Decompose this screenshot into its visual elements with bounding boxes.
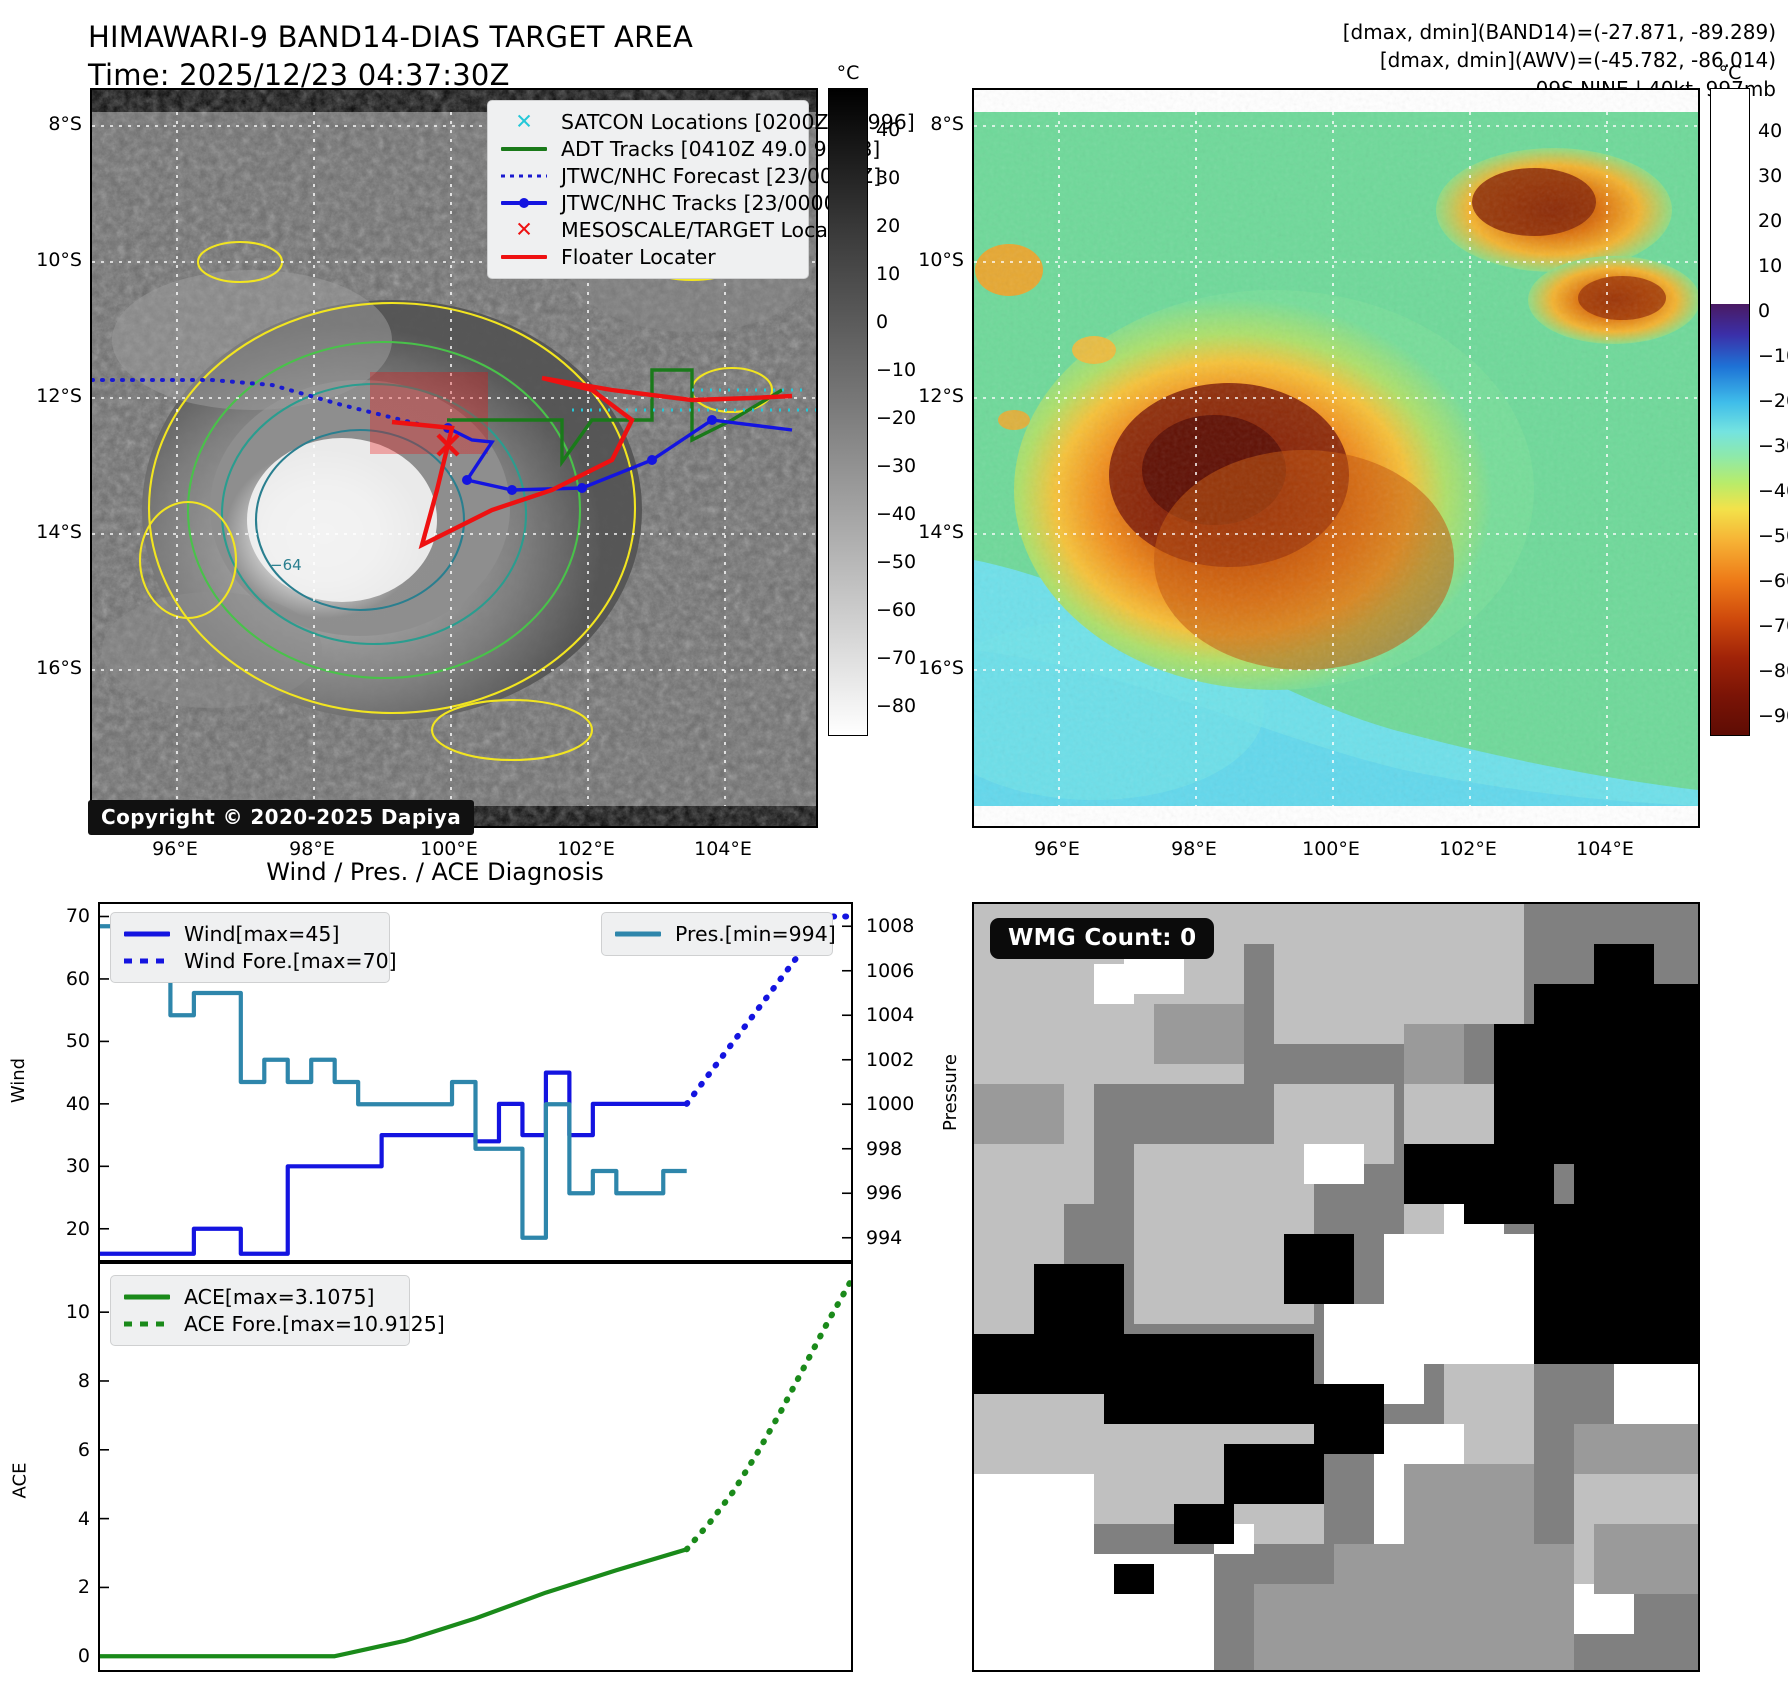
- wind-line-icon: [121, 924, 173, 944]
- awv-colorbar-tick: 0: [1758, 300, 1770, 322]
- awv-colorbar-tick: −40: [1758, 480, 1788, 502]
- lon-label: 102°E: [541, 838, 631, 860]
- lon-label: 100°E: [1286, 838, 1376, 860]
- awv-colorbar-tick: −90: [1758, 705, 1788, 727]
- ir-colorbar-tick: −30: [876, 455, 916, 477]
- diagnosis-subtitle: Wind / Pres. / ACE Diagnosis: [55, 858, 815, 886]
- axis-tick-label: 2: [30, 1576, 90, 1598]
- axis-tick-label: 996: [866, 1182, 902, 1204]
- ir-colorbar-tick: −20: [876, 407, 916, 429]
- mesoscale-x-icon: ✕: [498, 220, 550, 240]
- lat-label: 8°S: [890, 113, 964, 135]
- ace-line-icon: [121, 1287, 173, 1307]
- lat-label: 12°S: [890, 385, 964, 407]
- lat-label: 14°S: [890, 521, 964, 543]
- legend-item: JTWC/NHC Tracks [23/0000Z]: [498, 189, 797, 216]
- axis-tick-label: 1008: [866, 915, 914, 937]
- awv-colorbar-tick: −50: [1758, 525, 1788, 547]
- axis-tick-label: 994: [866, 1227, 902, 1249]
- lat-label: 16°S: [8, 657, 82, 679]
- legend-item: ADT Tracks [0410Z 49.0 996.8]: [498, 135, 797, 162]
- awv-satellite-image: [974, 90, 1698, 826]
- axis-tick-label: 10: [30, 1301, 90, 1323]
- lat-label: 12°S: [8, 385, 82, 407]
- pressure-line-icon: [612, 924, 664, 944]
- ir-colorbar-tick: 0: [876, 311, 888, 333]
- pressure-axis-title: Pressure: [940, 1054, 961, 1131]
- pressure-legend: Pres.[min=994]: [601, 912, 833, 956]
- ir-colorbar: [828, 88, 868, 736]
- axis-tick-label: 1006: [866, 960, 914, 982]
- ir-colorbar-tick: −80: [876, 695, 916, 717]
- ace-axis-title: ACE: [9, 1463, 30, 1499]
- axis-tick-label: 60: [30, 968, 90, 990]
- legend-item: ACE[max=3.1075]: [121, 1283, 398, 1310]
- legend-item: Floater Locater: [498, 243, 797, 270]
- band14-dmax-dmin-readout: [dmax, dmin](BAND14)=(-27.871, -89.289): [1343, 18, 1776, 46]
- lon-label: 104°E: [1560, 838, 1650, 860]
- legend-item: Pres.[min=994]: [612, 920, 821, 947]
- axis-tick-label: 8: [30, 1370, 90, 1392]
- awv-colorbar-tick: 10: [1758, 255, 1782, 277]
- awv-colorbar-tick: 20: [1758, 210, 1782, 232]
- ir-colorbar-tick: −50: [876, 551, 916, 573]
- lon-label: 96°E: [130, 838, 220, 860]
- legend-item: ✕ MESOSCALE/TARGET Location: [498, 216, 797, 243]
- wmg-count-badge: WMG Count: 0: [990, 918, 1214, 959]
- ir-colorbar-tick: 20: [876, 215, 900, 237]
- ir-colorbar-tick: 30: [876, 167, 900, 189]
- adt-line-icon: [498, 139, 550, 159]
- axis-tick-label: 50: [30, 1030, 90, 1052]
- legend-item: ✕ SATCON Locations [0200Z 42 996]: [498, 108, 797, 135]
- axis-tick-label: 1004: [866, 1004, 914, 1026]
- axis-tick-label: 6: [30, 1439, 90, 1461]
- legend-item: Wind Fore.[max=70]: [121, 947, 378, 974]
- axis-tick-label: 1002: [866, 1049, 914, 1071]
- page-title: HIMAWARI-9 BAND14-DIAS TARGET AREA Time:…: [88, 18, 693, 95]
- axis-tick-label: 998: [866, 1138, 902, 1160]
- lat-label: 10°S: [8, 249, 82, 271]
- lon-label: 100°E: [404, 838, 494, 860]
- awv-colorbar-tick: −10: [1758, 345, 1788, 367]
- axis-tick-label: 70: [30, 905, 90, 927]
- awv-satellite-panel[interactable]: [972, 88, 1700, 828]
- lon-label: 98°E: [267, 838, 357, 860]
- wmg-image: [974, 904, 1698, 1670]
- legend-item: Wind[max=45]: [121, 920, 378, 947]
- floater-line-icon: [498, 247, 550, 267]
- axis-tick-label: 20: [30, 1218, 90, 1240]
- awv-colorbar-tick: −30: [1758, 435, 1788, 457]
- svg-text:−64: −64: [270, 556, 302, 574]
- awv-colorbar-tick: −70: [1758, 615, 1788, 637]
- ace-legend: ACE[max=3.1075] ACE Fore.[max=10.9125]: [110, 1275, 410, 1346]
- ir-map-legend: ✕ SATCON Locations [0200Z 42 996] ADT Tr…: [487, 100, 809, 279]
- ir-colorbar-tick: −10: [876, 359, 916, 381]
- axis-tick-label: 1000: [866, 1093, 914, 1115]
- wind-axis-title: Wind: [8, 1058, 29, 1103]
- lat-label: 16°S: [890, 657, 964, 679]
- axis-tick-label: 4: [30, 1508, 90, 1530]
- awv-colorbar-tick: 40: [1758, 120, 1782, 142]
- jtwc-forecast-dotted-icon: [498, 166, 550, 186]
- wmg-panel[interactable]: [972, 902, 1700, 1672]
- satcon-x-icon: ✕: [498, 112, 550, 132]
- ace-forecast-dotted-icon: [121, 1314, 173, 1334]
- lon-label: 102°E: [1423, 838, 1513, 860]
- axis-tick-label: 0: [30, 1645, 90, 1667]
- lon-label: 104°E: [678, 838, 768, 860]
- ir-colorbar-unit: °C: [823, 62, 873, 84]
- wind-legend: Wind[max=45] Wind Fore.[max=70]: [110, 912, 390, 983]
- awv-colorbar-tick: −20: [1758, 390, 1788, 412]
- copyright-badge: Copyright © 2020-2025 Dapiya: [88, 800, 474, 835]
- legend-item: JTWC/NHC Forecast [23/0000Z]: [498, 162, 797, 189]
- lat-label: 14°S: [8, 521, 82, 543]
- awv-colorbar-tick: 30: [1758, 165, 1782, 187]
- lat-label: 10°S: [890, 249, 964, 271]
- lat-label: 8°S: [8, 113, 82, 135]
- wind-forecast-dotted-icon: [121, 951, 173, 971]
- lon-label: 98°E: [1149, 838, 1239, 860]
- awv-colorbar-tick: −80: [1758, 660, 1788, 682]
- awv-colorbar-unit: °C: [1705, 62, 1755, 84]
- axis-tick-label: 40: [30, 1093, 90, 1115]
- jtwc-track-marker-icon: [498, 193, 550, 213]
- legend-item: ACE Fore.[max=10.9125]: [121, 1310, 398, 1337]
- ir-colorbar-tick: −60: [876, 599, 916, 621]
- lon-label: 96°E: [1012, 838, 1102, 860]
- axis-tick-label: 30: [30, 1155, 90, 1177]
- awv-colorbar: [1710, 88, 1750, 736]
- awv-colorbar-tick: −60: [1758, 570, 1788, 592]
